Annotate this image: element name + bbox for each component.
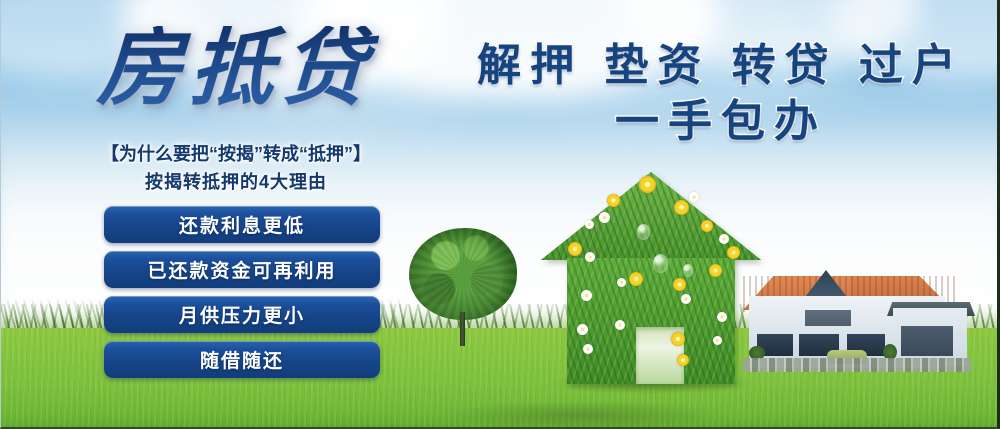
- poster-title: 房抵贷: [69, 26, 403, 110]
- villa-balcony: [805, 310, 851, 326]
- daisy-icon: [689, 192, 699, 202]
- promo-poster: 房抵贷 【为什么要把“按揭”转成“抵押”】 按揭转抵押的4大理由 还款利息更低 …: [0, 0, 1000, 429]
- reason-item-3[interactable]: 月供压力更小: [104, 296, 380, 333]
- daisy-icon: [583, 344, 593, 354]
- reason-list: 还款利息更低 已还款资金可再利用 月供压力更小 随借随还: [104, 206, 380, 386]
- daisy-icon: [709, 264, 722, 277]
- villa-photo: [743, 258, 975, 376]
- daisy-icon: [701, 220, 713, 232]
- daisy-icon: [568, 242, 582, 256]
- daisy-icon: [615, 320, 625, 330]
- water-droplet-icon: [683, 264, 693, 277]
- villa-stone-wall: [743, 358, 971, 372]
- daisy-icon: [599, 212, 610, 223]
- house-ground-shadow: [431, 400, 731, 429]
- daisy-icon: [629, 272, 643, 286]
- daisy-icon: [673, 278, 686, 291]
- daisy-icon: [713, 336, 722, 345]
- villa-annex-window: [901, 326, 953, 356]
- water-droplet-icon: [653, 254, 668, 273]
- reason-label-2: 已还款资金可再利用: [147, 256, 336, 283]
- daisy-icon: [717, 312, 727, 322]
- reason-label-1: 还款利息更低: [179, 211, 305, 238]
- reason-label-4: 随借随还: [200, 346, 284, 373]
- green-house-illustration: [541, 172, 761, 384]
- daisy-icon: [677, 354, 689, 366]
- reason-item-2[interactable]: 已还款资金可再利用: [104, 251, 380, 288]
- reason-item-1[interactable]: 还款利息更低: [104, 206, 380, 243]
- daisy-icon: [585, 252, 595, 262]
- service-headline: 解押 垫资 转贷 过户 一手包办: [456, 40, 986, 148]
- reason-item-4[interactable]: 随借随还: [104, 341, 380, 378]
- daisy-icon: [617, 278, 626, 287]
- daisy-icon: [577, 324, 588, 335]
- tree-icon: [405, 228, 521, 346]
- daisy-icon: [607, 194, 620, 207]
- daisy-icon: [719, 234, 729, 244]
- daisy-icon: [671, 332, 685, 346]
- tree-trunk: [460, 312, 465, 346]
- headline-line-1: 解押 垫资 转贷 过户: [456, 40, 986, 92]
- daisy-icon: [727, 246, 740, 259]
- reason-label-3: 月供压力更小: [179, 301, 305, 328]
- daisy-icon: [639, 176, 656, 193]
- daisy-icon: [581, 290, 592, 301]
- tree-canopy: [409, 228, 517, 320]
- daisy-icon: [674, 200, 689, 215]
- headline-line-2: 一手包办: [456, 96, 986, 148]
- daisy-icon: [681, 294, 691, 304]
- water-droplet-icon: [637, 224, 650, 240]
- poster-subtitle-2: 按揭转抵押的4大理由: [61, 168, 411, 194]
- daisy-icon: [585, 220, 594, 229]
- poster-subtitle-1: 【为什么要把“按揭”转成“抵押”】: [61, 140, 411, 166]
